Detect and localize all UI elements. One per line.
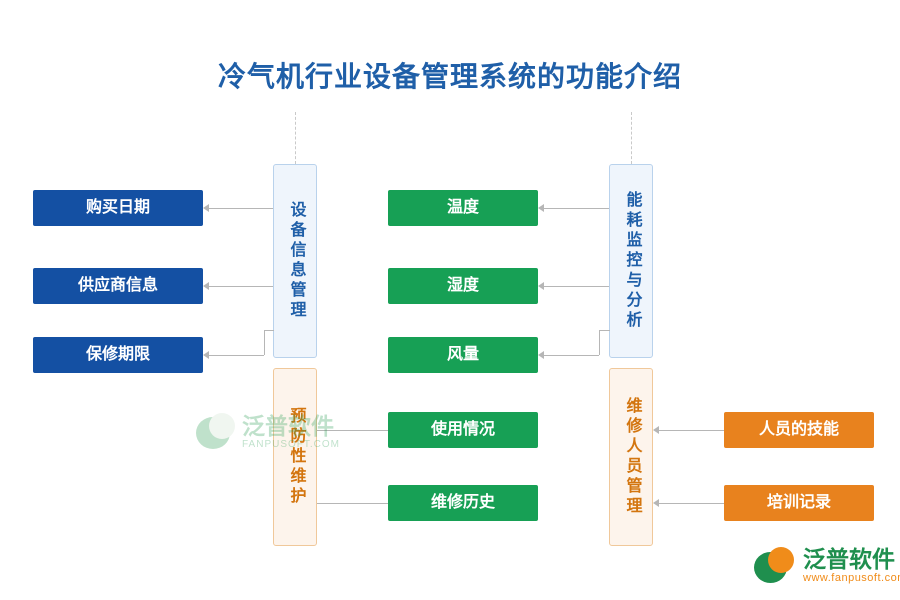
arrow-staff-training (653, 499, 659, 507)
arrow-energy-humidity (538, 282, 544, 290)
dashed-connector-left (295, 112, 296, 164)
connector-equipment-warranty-h1 (209, 355, 264, 356)
arrow-equipment-purchase (203, 204, 209, 212)
leaf-repair-history-label: 维修历史 (431, 494, 495, 513)
arrow-equipment-supplier (203, 282, 209, 290)
connector-energy-airflow-h2 (599, 330, 610, 331)
connector-energy-airflow-h1 (544, 355, 599, 356)
diagram-canvas: 冷气机行业设备管理系统的功能介绍 设备信息管理 购买日期 供应商信息 保修期限 … (0, 0, 900, 600)
connector-staff-training (659, 503, 724, 504)
leaf-warranty-period[interactable]: 保修期限 (33, 337, 203, 373)
connector-equipment-purchase (209, 208, 273, 209)
leaf-repair-history[interactable]: 维修历史 (388, 485, 538, 521)
leaf-supplier-info-label: 供应商信息 (78, 277, 158, 296)
watermark-logo-icon (196, 413, 236, 453)
category-staff-management[interactable]: 维修人员管理 (609, 368, 653, 546)
connector-equipment-warranty-v (264, 330, 265, 355)
connector-equipment-warranty-h2 (264, 330, 274, 331)
dashed-connector-right (631, 112, 632, 164)
connector-equipment-supplier (209, 286, 273, 287)
connector-energy-humidity (544, 286, 609, 287)
category-energy-monitor[interactable]: 能耗监控与分析 (609, 164, 653, 358)
arrow-energy-airflow (538, 351, 544, 359)
page-title: 冷气机行业设备管理系统的功能介绍 (0, 55, 900, 95)
leaf-humidity[interactable]: 湿度 (388, 268, 538, 304)
leaf-warranty-period-label: 保修期限 (86, 346, 150, 365)
watermark-cn-text: 泛普软件 (242, 415, 340, 438)
category-equipment-info[interactable]: 设备信息管理 (273, 164, 317, 358)
arrow-equipment-warranty (203, 351, 209, 359)
brand-logo-icon (754, 546, 796, 588)
leaf-temperature[interactable]: 温度 (388, 190, 538, 226)
connector-energy-airflow-v (599, 330, 600, 355)
leaf-training-records[interactable]: 培训记录 (724, 485, 874, 521)
watermark-en-text: FANPUSOFT.COM (242, 438, 340, 452)
leaf-purchase-date[interactable]: 购买日期 (33, 190, 203, 226)
connector-energy-temperature (544, 208, 609, 209)
category-staff-management-label: 维修人员管理 (622, 397, 641, 517)
category-energy-monitor-label: 能耗监控与分析 (622, 191, 641, 331)
leaf-humidity-label: 湿度 (447, 277, 479, 296)
brand-logo-en: www.fanpusoft.com (803, 571, 900, 586)
watermark-center: 泛普软件 FANPUSOFT.COM (196, 402, 366, 464)
leaf-staff-skills[interactable]: 人员的技能 (724, 412, 874, 448)
leaf-temperature-label: 温度 (447, 199, 479, 218)
category-equipment-info-label: 设备信息管理 (286, 201, 305, 321)
leaf-supplier-info[interactable]: 供应商信息 (33, 268, 203, 304)
arrow-energy-temperature (538, 204, 544, 212)
connector-staff-skills (659, 430, 724, 431)
leaf-training-records-label: 培训记录 (767, 494, 831, 513)
arrow-staff-skills (653, 426, 659, 434)
leaf-usage-status[interactable]: 使用情况 (388, 412, 538, 448)
leaf-airflow-label: 风量 (447, 346, 479, 365)
brand-logo: 泛普软件 www.fanpusoft.com (754, 541, 894, 593)
leaf-purchase-date-label: 购买日期 (86, 199, 150, 218)
brand-logo-cn: 泛普软件 (803, 547, 900, 571)
leaf-usage-status-label: 使用情况 (431, 421, 495, 440)
leaf-staff-skills-label: 人员的技能 (759, 421, 839, 440)
connector-preventive-history (317, 503, 388, 504)
leaf-airflow[interactable]: 风量 (388, 337, 538, 373)
